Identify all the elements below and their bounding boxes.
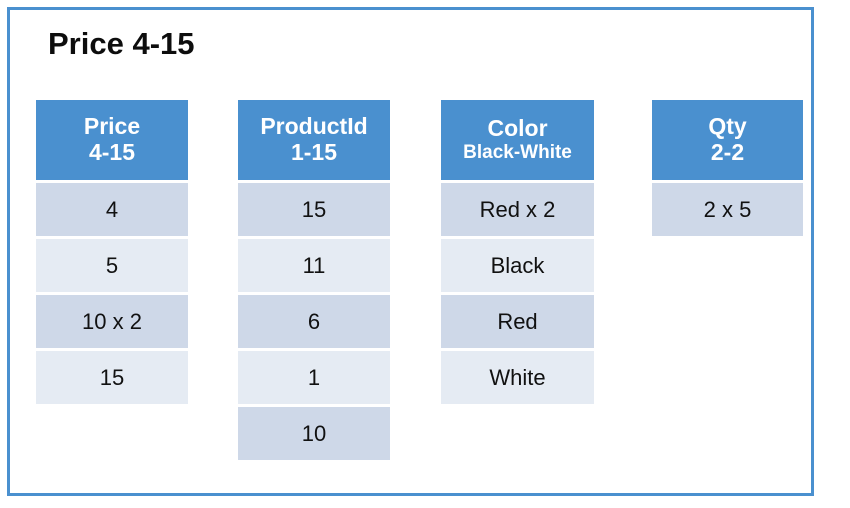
column-header-title-price: Price bbox=[84, 114, 140, 140]
column-header-title-productid: ProductId bbox=[260, 114, 367, 140]
cell-price-1: 5 bbox=[36, 239, 188, 292]
column-price: Price4-154510 x 215 bbox=[36, 100, 188, 404]
cell-qty-0: 2 x 5 bbox=[652, 183, 803, 236]
column-header-subtitle-productid: 1-15 bbox=[291, 140, 337, 166]
column-header-title-qty: Qty bbox=[708, 114, 746, 140]
cell-price-0: 4 bbox=[36, 183, 188, 236]
column-color: ColorBlack-WhiteRed x 2BlackRedWhite bbox=[441, 100, 594, 404]
column-header-subtitle-color: Black-White bbox=[463, 142, 572, 163]
column-header-price: Price4-15 bbox=[36, 100, 188, 180]
cell-productid-4: 10 bbox=[238, 407, 390, 460]
column-header-color: ColorBlack-White bbox=[441, 100, 594, 180]
cell-productid-0: 15 bbox=[238, 183, 390, 236]
cell-color-3: White bbox=[441, 351, 594, 404]
column-header-qty: Qty2-2 bbox=[652, 100, 803, 180]
cell-productid-1: 11 bbox=[238, 239, 390, 292]
cell-color-0: Red x 2 bbox=[441, 183, 594, 236]
cell-productid-2: 6 bbox=[238, 295, 390, 348]
column-header-productid: ProductId1-15 bbox=[238, 100, 390, 180]
column-productid: ProductId1-1515116110 bbox=[238, 100, 390, 460]
diagram-canvas: Price 4-15 Price4-154510 x 215ProductId1… bbox=[0, 0, 850, 508]
cell-price-2: 10 x 2 bbox=[36, 295, 188, 348]
cell-price-3: 15 bbox=[36, 351, 188, 404]
column-header-title-color: Color bbox=[487, 116, 547, 142]
column-group: Price4-154510 x 215ProductId1-1515116110… bbox=[0, 0, 850, 508]
column-header-subtitle-qty: 2-2 bbox=[711, 140, 744, 166]
cell-color-1: Black bbox=[441, 239, 594, 292]
cell-productid-3: 1 bbox=[238, 351, 390, 404]
column-header-subtitle-price: 4-15 bbox=[89, 140, 135, 166]
cell-color-2: Red bbox=[441, 295, 594, 348]
column-qty: Qty2-22 x 5 bbox=[652, 100, 803, 236]
